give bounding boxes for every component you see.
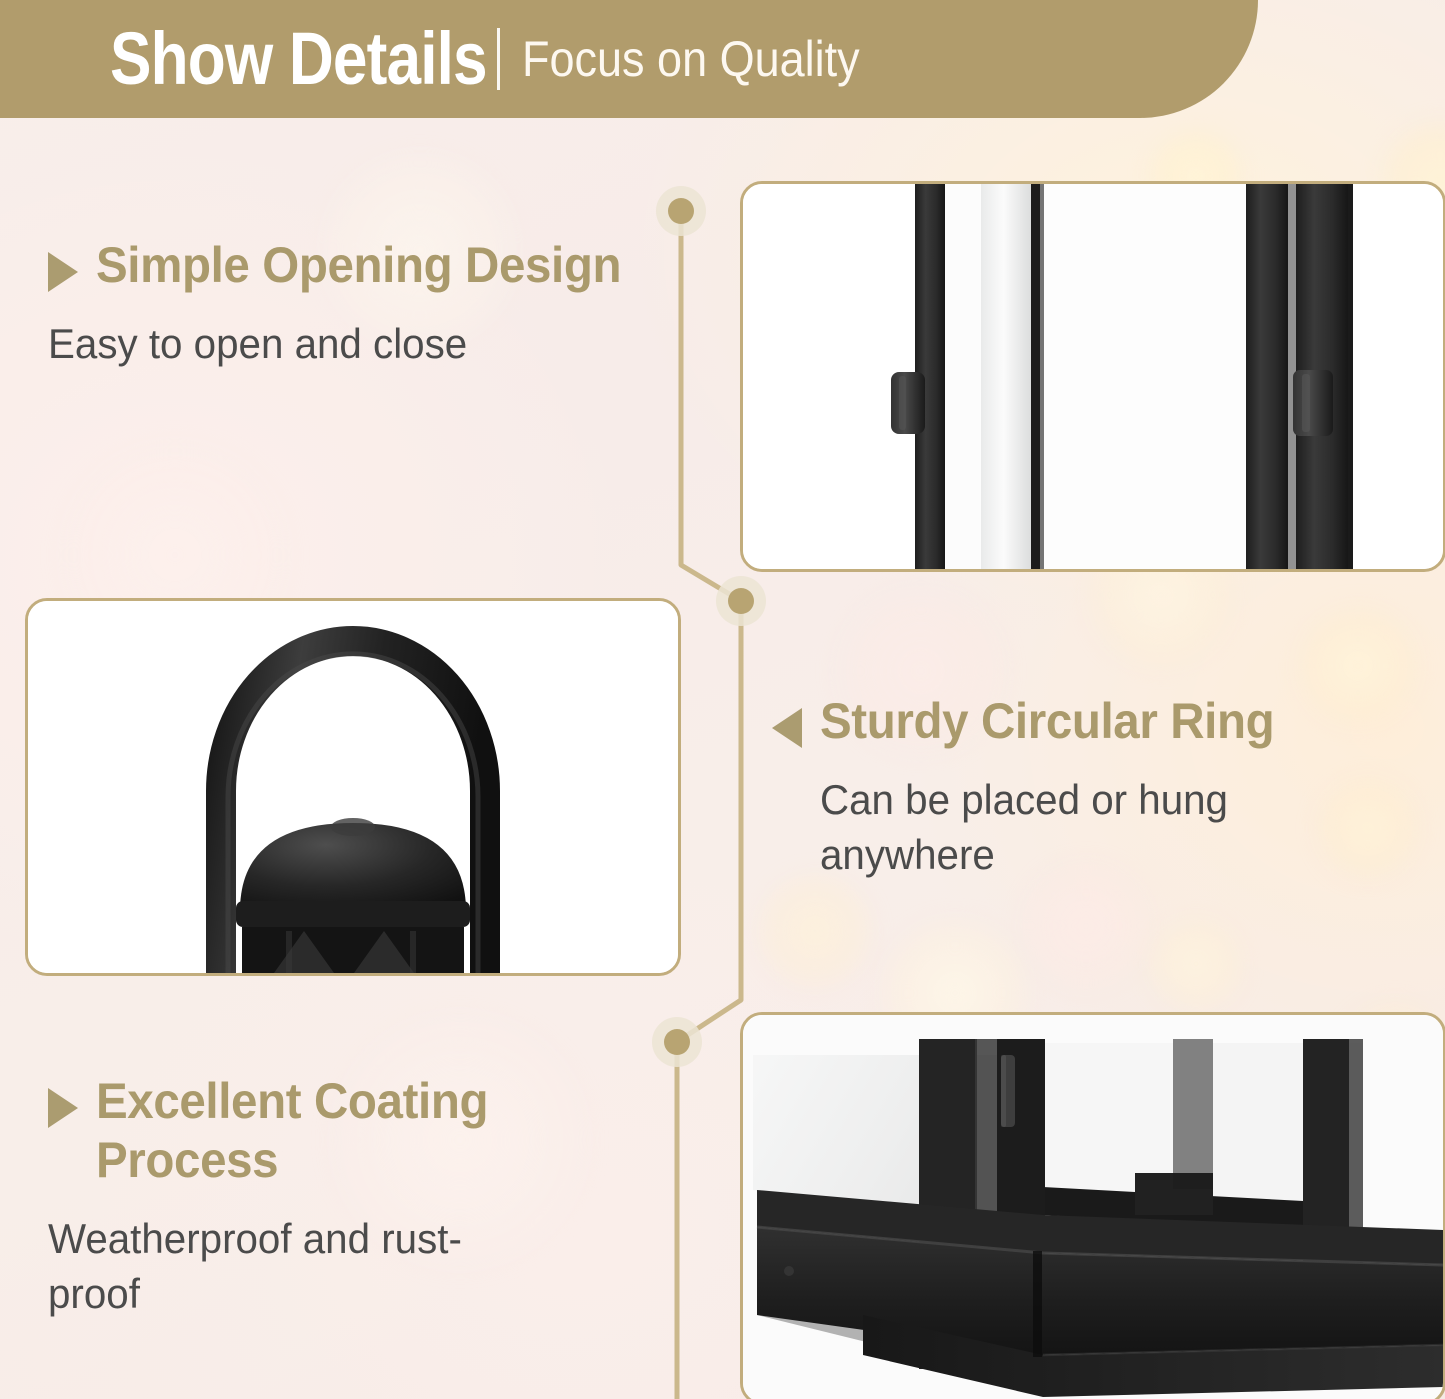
page-title: Show Details (110, 22, 487, 96)
feature-subtitle: Can be placed or hung anywhere (820, 773, 1338, 882)
feature-heading-row: Simple Opening Design (48, 236, 658, 295)
lantern-door-latch-image (743, 184, 1443, 569)
feature-subtitle: Easy to open and close (48, 317, 634, 372)
feature-title: Simple Opening Design (96, 236, 621, 295)
feature-subtitle: Weatherproof and rust-proof (48, 1212, 499, 1321)
triangle-left-icon (772, 708, 802, 748)
header-subtitle: Focus on Quality (522, 34, 860, 84)
header-banner-content: Show Details Focus on Quality (110, 0, 897, 118)
header-divider (497, 28, 500, 90)
header-banner: Show Details Focus on Quality (0, 0, 1258, 118)
infographic-root: Show Details Focus on Quality (0, 0, 1445, 1399)
panel-lantern-base (740, 1012, 1445, 1399)
panel-lantern-door-latch (740, 181, 1445, 572)
feature-sturdy-circular-ring: Sturdy Circular Ring Can be placed or hu… (772, 692, 1412, 882)
feature-title: Excellent Coating Process (96, 1072, 620, 1190)
panel-lantern-handle-ring (25, 598, 681, 976)
lantern-base-image (743, 1015, 1443, 1399)
lantern-handle-ring-image (28, 601, 678, 973)
triangle-right-icon (48, 1088, 78, 1128)
feature-title: Sturdy Circular Ring (820, 692, 1274, 751)
feature-heading-row: Sturdy Circular Ring (772, 692, 1412, 751)
feature-excellent-coating-process: Excellent Coating Process Weatherproof a… (48, 1072, 648, 1321)
triangle-right-icon (48, 252, 78, 292)
feature-simple-opening-design: Simple Opening Design Easy to open and c… (48, 236, 658, 372)
feature-heading-row: Excellent Coating Process (48, 1072, 648, 1190)
